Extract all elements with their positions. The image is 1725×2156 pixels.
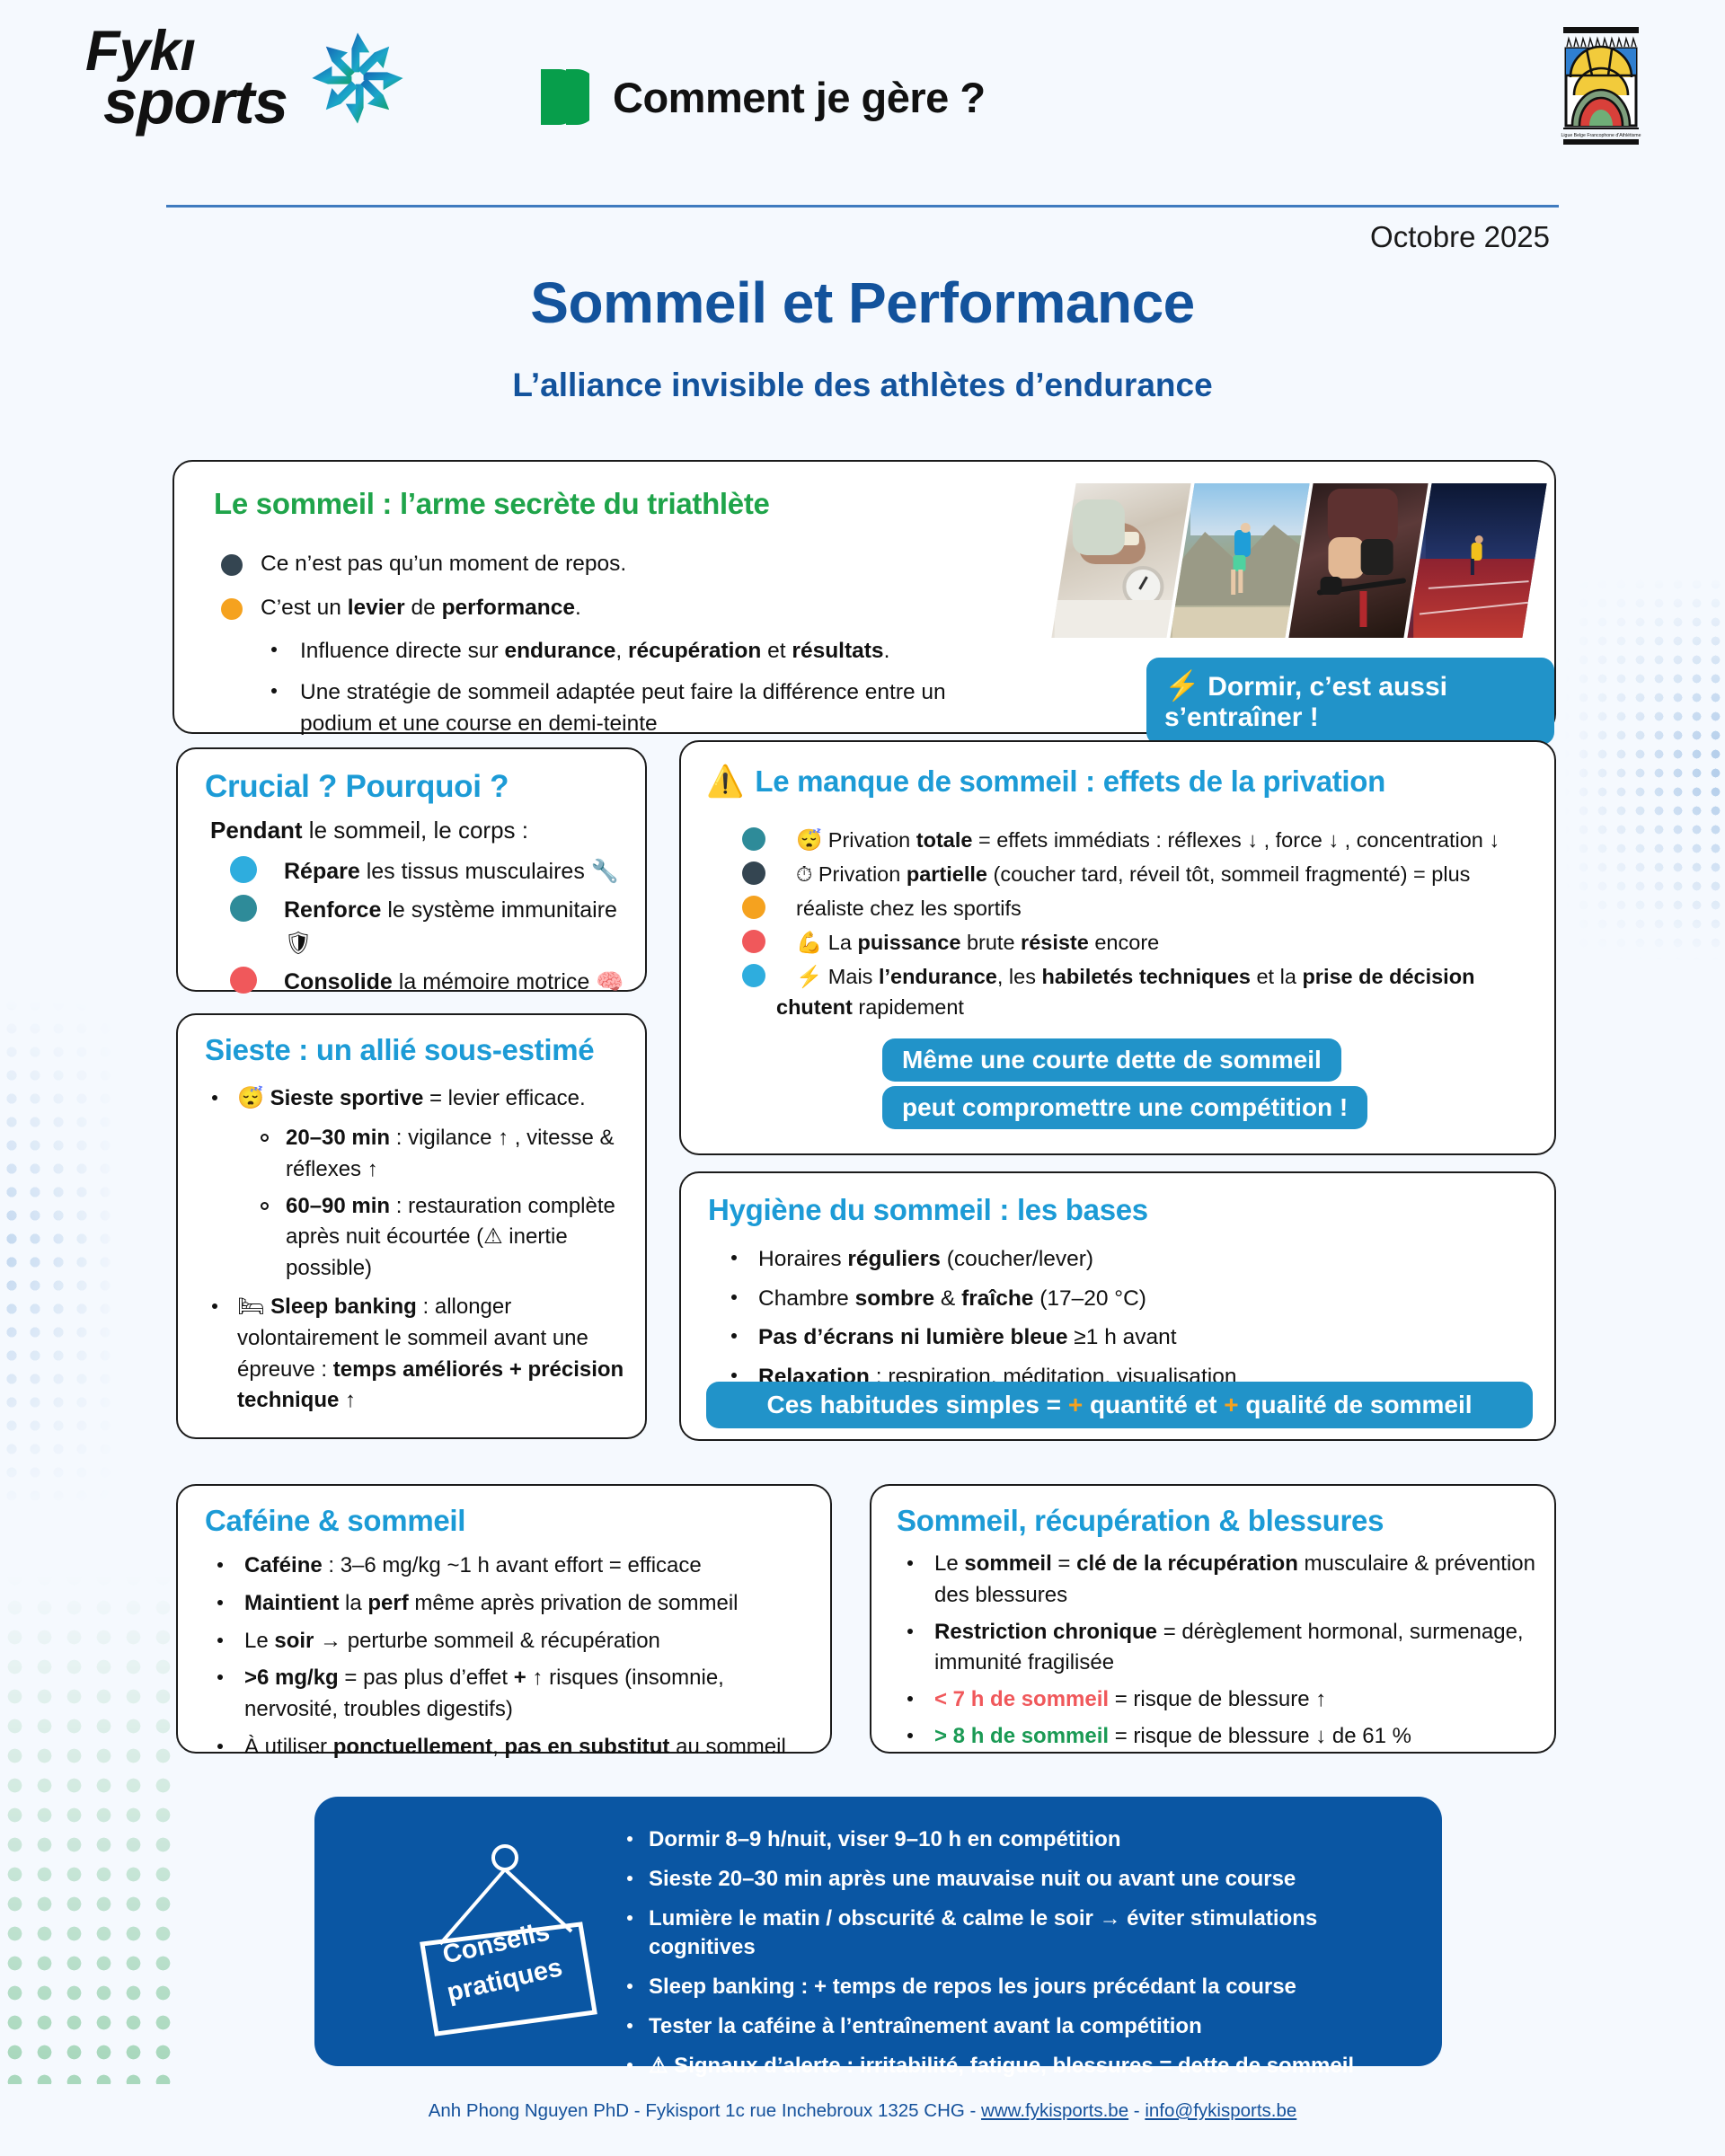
card-sommeil-recuperation-blessures: Sommeil, récupération & blessures Le som… [870, 1484, 1556, 1754]
list-item-label: Sleep banking : allonger volontairement … [237, 1294, 624, 1412]
cyclist-road-bike-photo [1288, 483, 1428, 638]
list-item: Caféine : 3–6 mg/kg ~1 h avant effort = … [217, 1551, 819, 1582]
list-item-label: Lumière le matin / obscurité & calme le … [649, 1906, 1317, 1958]
list-item-label: Maintient la perf même après privation d… [244, 1591, 739, 1615]
list-item: >6 mg/kg = pas plus d’effet + ↑ risques … [217, 1663, 819, 1726]
bullet-square [271, 647, 277, 652]
bullet-dot-dark [221, 554, 243, 576]
list-item-label: C’est un levier de performance. [261, 596, 581, 620]
list-item: ⚡ Mais l’endurance, les habiletés techni… [742, 961, 1542, 1022]
bullet-dot-orange [742, 896, 765, 919]
list-item-label: Sieste sportive = levier efficace. [270, 1086, 586, 1110]
bullet-dot-red [230, 967, 257, 994]
card-cafeine-sommeil: Caféine & sommeil Caféine : 3–6 mg/kg ~1… [176, 1484, 832, 1754]
list-item-label: Chambre sombre & fraîche (17–20 °C) [758, 1286, 1146, 1311]
bullet-square [627, 1915, 632, 1921]
card-sieste: Sieste : un allié sous-estimé 😴 Sieste s… [176, 1013, 647, 1439]
footer-separator: - [1128, 2100, 1145, 2121]
bullet-square [217, 1562, 223, 1568]
bullet-square [271, 688, 277, 694]
card-blessures-title: Sommeil, récupération & blessures [897, 1504, 1384, 1538]
sleeping-woman-alarm-clock-photo [1051, 483, 1190, 638]
header-divider [166, 205, 1559, 208]
list-item-label: Caféine : 3–6 mg/kg ~1 h avant effort = … [244, 1553, 702, 1577]
card-manque-de-sommeil: ⚠️ Le manque de sommeil : effets de la p… [679, 740, 1556, 1155]
bullet-square [217, 1600, 223, 1605]
bullet-square [731, 1255, 737, 1260]
bullet-square [212, 1095, 217, 1100]
bullet-dot-teal [230, 895, 257, 922]
bullet-dot-blue [230, 856, 257, 883]
decorative-dots-right [1536, 575, 1725, 961]
footer: Anh Phong Nguyen PhD - Fykisport 1c rue … [0, 2100, 1725, 2122]
bullet-square [627, 2023, 632, 2028]
card-crucial-title: Crucial ? Pourquoi ? [205, 769, 509, 805]
bullet-square [627, 1876, 632, 1881]
bullet-square [907, 1696, 913, 1701]
list-item: Maintient la perf même après privation d… [217, 1588, 819, 1620]
bullet-dot-dark [742, 862, 765, 885]
list-item-label: >6 mg/kg = pas plus d’effet + ↑ risques … [244, 1666, 724, 1721]
bullet-dot-orange [221, 598, 243, 620]
list-item-label: Pas d’écrans ni lumière bleue ≥1 h avant [758, 1325, 1177, 1349]
bullet-ring [261, 1202, 269, 1210]
list-item: Une stratégie de sommeil adaptée peut fa… [271, 676, 981, 740]
sleeping-face-icon: 😴 [237, 1086, 264, 1110]
list-item-label: Influence directe sur endurance, récupér… [300, 639, 889, 663]
bullet-square [217, 1744, 223, 1749]
list-item: Répare les tissus musculaires 🔧 [230, 855, 634, 888]
sleeping-face-icon: 😴 [796, 828, 822, 852]
night-track-runner-photo [1407, 483, 1546, 638]
bullet-square [907, 1629, 913, 1634]
list-item: Sleep banking : + temps de repos les jou… [620, 1973, 1411, 2001]
list-item-label: À utiliser ponctuellement, pas en substi… [244, 1735, 786, 1759]
list-item-label: Ce n’est pas qu’un moment de repos. [261, 552, 626, 576]
bullet-square [731, 1373, 737, 1378]
list-item: ⏱ Privation partielle (coucher tard, rév… [742, 859, 1542, 889]
tips-list: Dormir 8–9 h/nuit, viser 9–10 h en compé… [620, 1825, 1411, 2091]
pill-dette-line1: Même une courte dette de sommeil [882, 1038, 1341, 1082]
list-item: Restriction chronique = dérèglement horm… [907, 1617, 1547, 1680]
list-item-label: 60–90 min : restauration complète après … [286, 1194, 615, 1281]
list-item-label: Privation totale = effets immédiats : ré… [828, 828, 1499, 852]
list-item-label: < 7 h de sommeil = risque de blessure ↑ [934, 1687, 1326, 1711]
card-hygiene-title: Hygiène du sommeil : les bases [708, 1193, 1148, 1227]
fyki-pinwheel-logo-icon [308, 20, 407, 137]
bullet-square [907, 1560, 913, 1566]
card-sommeil-arme-secrete: Le sommeil : l’arme secrète du triathlèt… [172, 460, 1556, 734]
comment-je-gere-title: Comment je gère ? [613, 73, 986, 122]
lightning-bolt-icon: ⚡ [1164, 669, 1200, 702]
list-item-label: réaliste chez les sportifs [796, 897, 1022, 920]
list-item: Pas d’écrans ni lumière bleue ≥1 h avant [731, 1321, 1522, 1354]
list-item: Dormir 8–9 h/nuit, viser 9–10 h en compé… [620, 1825, 1411, 1853]
bullet-square [217, 1674, 223, 1680]
fyki-sports-logo: Fykı sports [85, 27, 382, 184]
card-privation-title: Le manque de sommeil : effets de la priv… [755, 764, 1385, 799]
list-item-label: Le sommeil = clé de la récupération musc… [934, 1551, 1535, 1607]
list-item-label: Le soir → perturbe sommeil & récupératio… [244, 1629, 660, 1653]
bullet-square [731, 1294, 737, 1300]
list-item: 💪 La puissance brute résiste encore [742, 927, 1542, 958]
page-title: Sommeil et Performance [0, 269, 1725, 336]
comment-je-gere-badge: Comment je gère ? [539, 67, 986, 127]
list-item-label: Une stratégie de sommeil adaptée peut fa… [300, 680, 946, 737]
trail-runner-mountain-photo [1170, 483, 1309, 638]
card-crucial-pourquoi: Crucial ? Pourquoi ? Pendant le sommeil,… [176, 747, 647, 992]
card-sieste-title: Sieste : un allié sous-estimé [205, 1033, 594, 1067]
list-item-label: Sleep banking : + temps de repos les jou… [649, 1975, 1296, 1999]
list-item-label: 20–30 min : vigilance ↑ , vitesse & réfl… [286, 1126, 615, 1181]
panel-conseils-pratiques: Conseils pratiques Dormir 8–9 h/nuit, vi… [314, 1797, 1442, 2066]
list-item: Horaires réguliers (coucher/lever) [731, 1243, 1522, 1276]
lightning-bolt-icon: ⚡ [796, 965, 822, 988]
list-item-label: Mais l’endurance, les habiletés techniqu… [828, 965, 1475, 988]
bullet-dot-teal [742, 827, 765, 851]
list-item: ⚠ Signaux d’alerte : irritabilité, fatig… [620, 2052, 1411, 2080]
card-cafeine-title: Caféine & sommeil [205, 1504, 465, 1538]
list-item-label: Dormir 8–9 h/nuit, viser 9–10 h en compé… [649, 1827, 1120, 1851]
list-item: Sieste 20–30 min après une mauvaise nuit… [620, 1865, 1411, 1893]
publication-date: Octobre 2025 [1370, 220, 1550, 254]
bullet-square [212, 1303, 217, 1309]
list-item-label: Consolide la mémoire motrice [284, 969, 589, 994]
bullet-square [627, 1836, 632, 1842]
list-item: 20–30 min : vigilance ↑ , vitesse & réfl… [261, 1123, 629, 1186]
list-item: Le soir → perturbe sommeil & récupératio… [217, 1626, 819, 1657]
list-item: Ce n’est pas qu’un moment de repos. [221, 548, 994, 580]
stopwatch-icon: ⏱ [796, 862, 812, 886]
list-item-label: Tester la caféine à l’entraînement avant… [649, 2014, 1202, 2038]
wrench-icon: 🔧 [591, 859, 619, 884]
bullet-dot-red [742, 930, 765, 953]
list-item-label: Privation partielle (coucher tard, révei… [818, 862, 1471, 886]
bed-icon: 🛏 [237, 1294, 264, 1319]
warning-triangle-icon: ⚠️ [706, 764, 744, 800]
list-item-label: > 8 h de sommeil = risque de blessure ↓ … [934, 1724, 1411, 1748]
list-item-label: Restriction chronique = dérèglement horm… [934, 1620, 1524, 1675]
list-item-label: Horaires réguliers (coucher/lever) [758, 1247, 1093, 1271]
list-item: Chambre sombre & fraîche (17–20 °C) [731, 1283, 1522, 1315]
flexed-biceps-icon: 💪 [796, 931, 822, 954]
list-item: réaliste chez les sportifs [742, 893, 1542, 923]
list-item: 😴 Privation totale = effets immédiats : … [742, 825, 1542, 855]
list-item-label: ⚠ Signaux d’alerte : irritabilité, fatig… [649, 2054, 1354, 2078]
shield-icon: 🛡 [284, 931, 313, 956]
bullet-ring [261, 1134, 269, 1142]
pill-dette-line2: peut compromettre une compétition ! [882, 1086, 1367, 1129]
list-item-continuation: chutent rapidement [776, 992, 1542, 1022]
page-header: Fykı sports [0, 0, 1725, 207]
list-item: À utiliser ponctuellement, pas en substi… [217, 1732, 819, 1763]
list-item: Lumière le matin / obscurité & calme le … [620, 1904, 1411, 1960]
pill-habitudes-simples: Ces habitudes simples = + quantité et + … [706, 1382, 1533, 1428]
bullet-square [907, 1733, 913, 1738]
federation-caption: Ligue Belge Francophone d'Athlétisme [1561, 133, 1641, 138]
footer-link-website[interactable]: www.fykisports.be [981, 2100, 1128, 2121]
list-item: 60–90 min : restauration complète après … [261, 1191, 629, 1285]
list-item-label: Répare les tissus musculaires [284, 859, 585, 884]
brain-icon: 🧠 [596, 969, 624, 994]
list-item: > 8 h de sommeil = risque de blessure ↓ … [907, 1721, 1547, 1753]
bullet-dot-blue [742, 964, 765, 987]
list-item-label: Sieste 20–30 min après une mauvaise nuit… [649, 1867, 1296, 1891]
pill-dormir-entrainer: ⚡ Dormir, c’est aussi s’entraîner ! [1146, 658, 1554, 745]
list-item: C’est un levier de performance. [221, 592, 994, 624]
footer-text: Anh Phong Nguyen PhD - Fykisport 1c rue … [429, 2100, 981, 2121]
footer-link-email[interactable]: info@fykisports.be [1145, 2100, 1296, 2121]
card-hygiene-sommeil: Hygiène du sommeil : les bases Horaires … [679, 1171, 1556, 1441]
bullet-square [627, 2063, 632, 2068]
list-item-label: La puissance brute résiste encore [828, 931, 1159, 954]
bullet-square [217, 1638, 223, 1643]
list-item: Consolide la mémoire motrice 🧠 [230, 966, 634, 998]
double-chevron-green-icon [539, 67, 589, 127]
list-item: < 7 h de sommeil = risque de blessure ↑ [907, 1684, 1547, 1716]
list-item: 🛏 Sleep banking : allonger volontairemen… [212, 1292, 625, 1417]
card-secret-title: Le sommeil : l’arme secrète du triathlèt… [214, 487, 770, 521]
list-item: Renforce le système immunitaire 🛡 [230, 894, 634, 959]
bullet-square [731, 1333, 737, 1339]
card-crucial-intro: Pendant le sommeil, le corps : [210, 814, 528, 848]
list-item: Tester la caféine à l’entraînement avant… [620, 2012, 1411, 2040]
list-item-label: Renforce le système immunitaire [284, 897, 617, 923]
ligue-belge-francophone-athletisme-logo-icon: Ligue Belge Francophone d'Athlétisme [1560, 25, 1642, 146]
list-item: Influence directe sur endurance, récupér… [271, 635, 981, 667]
decorative-dots-left-blue [0, 970, 135, 1527]
page-subtitle: L’alliance invisible des athlètes d’endu… [0, 367, 1725, 404]
photo-strip [1064, 483, 1535, 638]
list-item: Le sommeil = clé de la récupération musc… [907, 1549, 1547, 1612]
bullet-square [627, 1984, 632, 1989]
list-item: 😴 Sieste sportive = levier efficace. [212, 1083, 625, 1115]
decorative-dots-left-green [0, 1563, 180, 2084]
poster-page: Fykı sports [0, 0, 1725, 2156]
pill-label: Dormir, c’est aussi s’entraîner ! [1164, 672, 1447, 732]
